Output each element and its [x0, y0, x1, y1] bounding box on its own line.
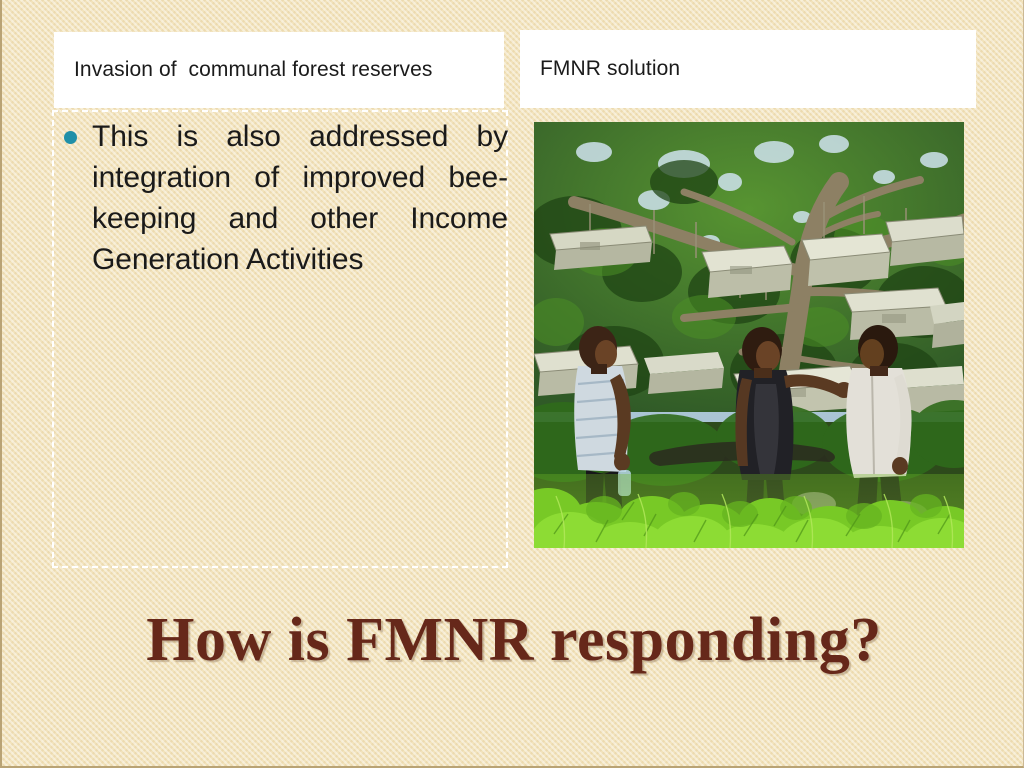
bullet-item-text: This is also addressed by integration of… — [92, 116, 508, 280]
header-box-left: Invasion of communal forest reserves — [54, 32, 504, 108]
list-item: This is also addressed by integration of… — [64, 116, 508, 280]
presentation-slide: Invasion of communal forest reserves FMN… — [0, 0, 1024, 768]
bullet-list: This is also addressed by integration of… — [64, 116, 508, 280]
header-label-left: Invasion of communal forest reserves — [54, 58, 433, 82]
photo-illustration — [534, 122, 964, 548]
page-title: How is FMNR responding? — [2, 604, 1024, 676]
header-box-right: FMNR solution — [520, 30, 976, 108]
header-label-right: FMNR solution — [520, 57, 680, 81]
photo-beehives-in-tree — [534, 122, 964, 548]
bullet-dot-icon — [64, 131, 77, 144]
